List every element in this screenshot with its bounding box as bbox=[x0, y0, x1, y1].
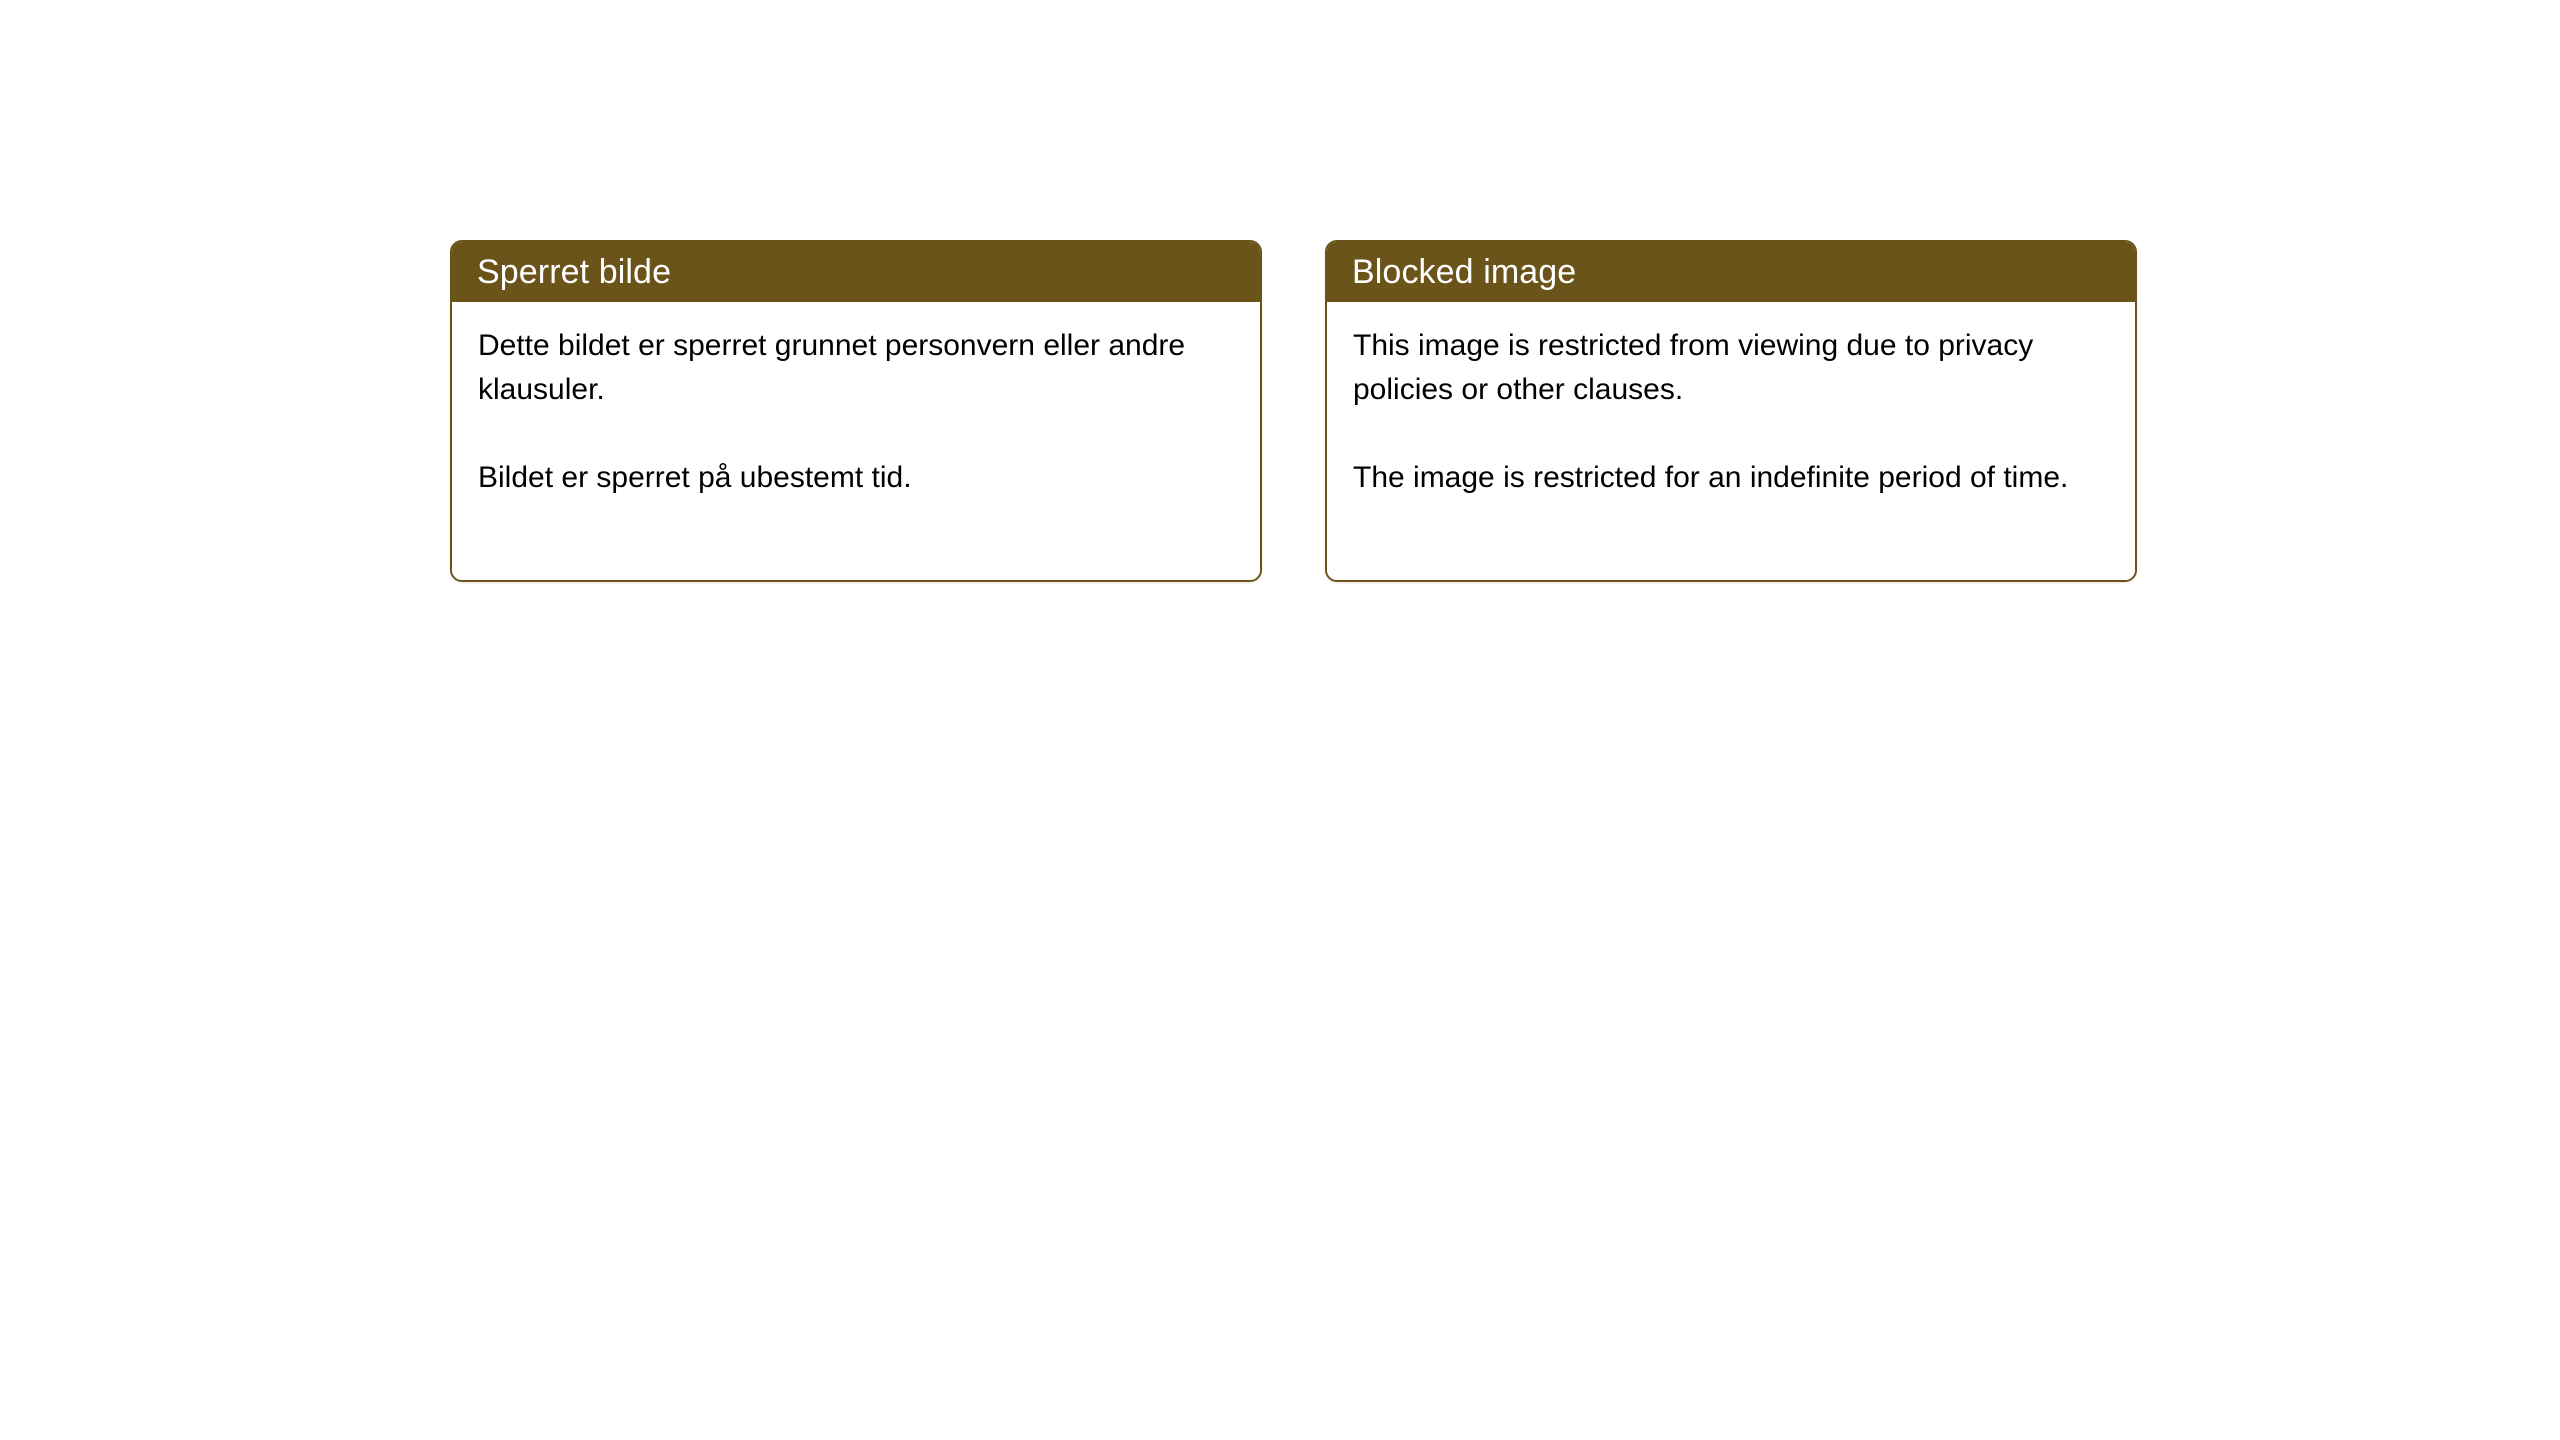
card-title-norwegian: Sperret bilde bbox=[477, 255, 671, 289]
card-header-norwegian: Sperret bilde bbox=[452, 242, 1260, 302]
blocked-image-notice-area: Sperret bilde Dette bildet er sperret gr… bbox=[450, 240, 2137, 582]
blocked-image-card-english: Blocked image This image is restricted f… bbox=[1325, 240, 2137, 582]
card-body-english: This image is restricted from viewing du… bbox=[1327, 302, 2135, 580]
card-body-norwegian: Dette bildet er sperret grunnet personve… bbox=[452, 302, 1260, 580]
card-paragraph-duration-english: The image is restricted for an indefinit… bbox=[1353, 456, 2111, 500]
blocked-image-card-norwegian: Sperret bilde Dette bildet er sperret gr… bbox=[450, 240, 1262, 582]
card-header-english: Blocked image bbox=[1327, 242, 2135, 302]
card-title-english: Blocked image bbox=[1352, 255, 1576, 289]
card-paragraph-duration-norwegian: Bildet er sperret på ubestemt tid. bbox=[478, 456, 1236, 500]
card-paragraph-reason-norwegian: Dette bildet er sperret grunnet personve… bbox=[478, 324, 1236, 412]
card-paragraph-reason-english: This image is restricted from viewing du… bbox=[1353, 324, 2111, 412]
